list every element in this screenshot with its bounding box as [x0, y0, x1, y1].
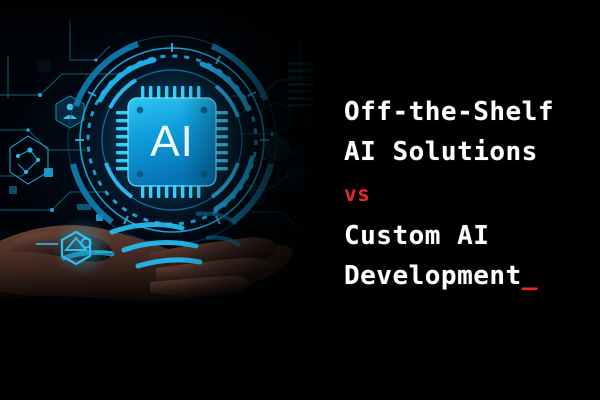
foreground-hud-arcs-dim	[196, 213, 240, 246]
headline-line-4: Development_	[344, 256, 594, 296]
headline-line-1: Off-the-Shelf	[344, 92, 594, 132]
headline-block: Off-the-Shelf AI Solutions vs Custom AI …	[344, 92, 594, 296]
open-hand	[0, 225, 300, 400]
headline-line-3: Custom AI	[344, 216, 594, 256]
promo-banner: AI	[0, 0, 600, 400]
open-hand-layer	[0, 0, 330, 400]
typing-cursor: _	[522, 261, 538, 291]
ai-hologram-artwork: AI	[0, 0, 330, 400]
headline-line-2: AI Solutions	[344, 132, 594, 172]
headline-line-4-text: Development	[344, 261, 522, 291]
headline-separator: vs	[344, 172, 594, 216]
